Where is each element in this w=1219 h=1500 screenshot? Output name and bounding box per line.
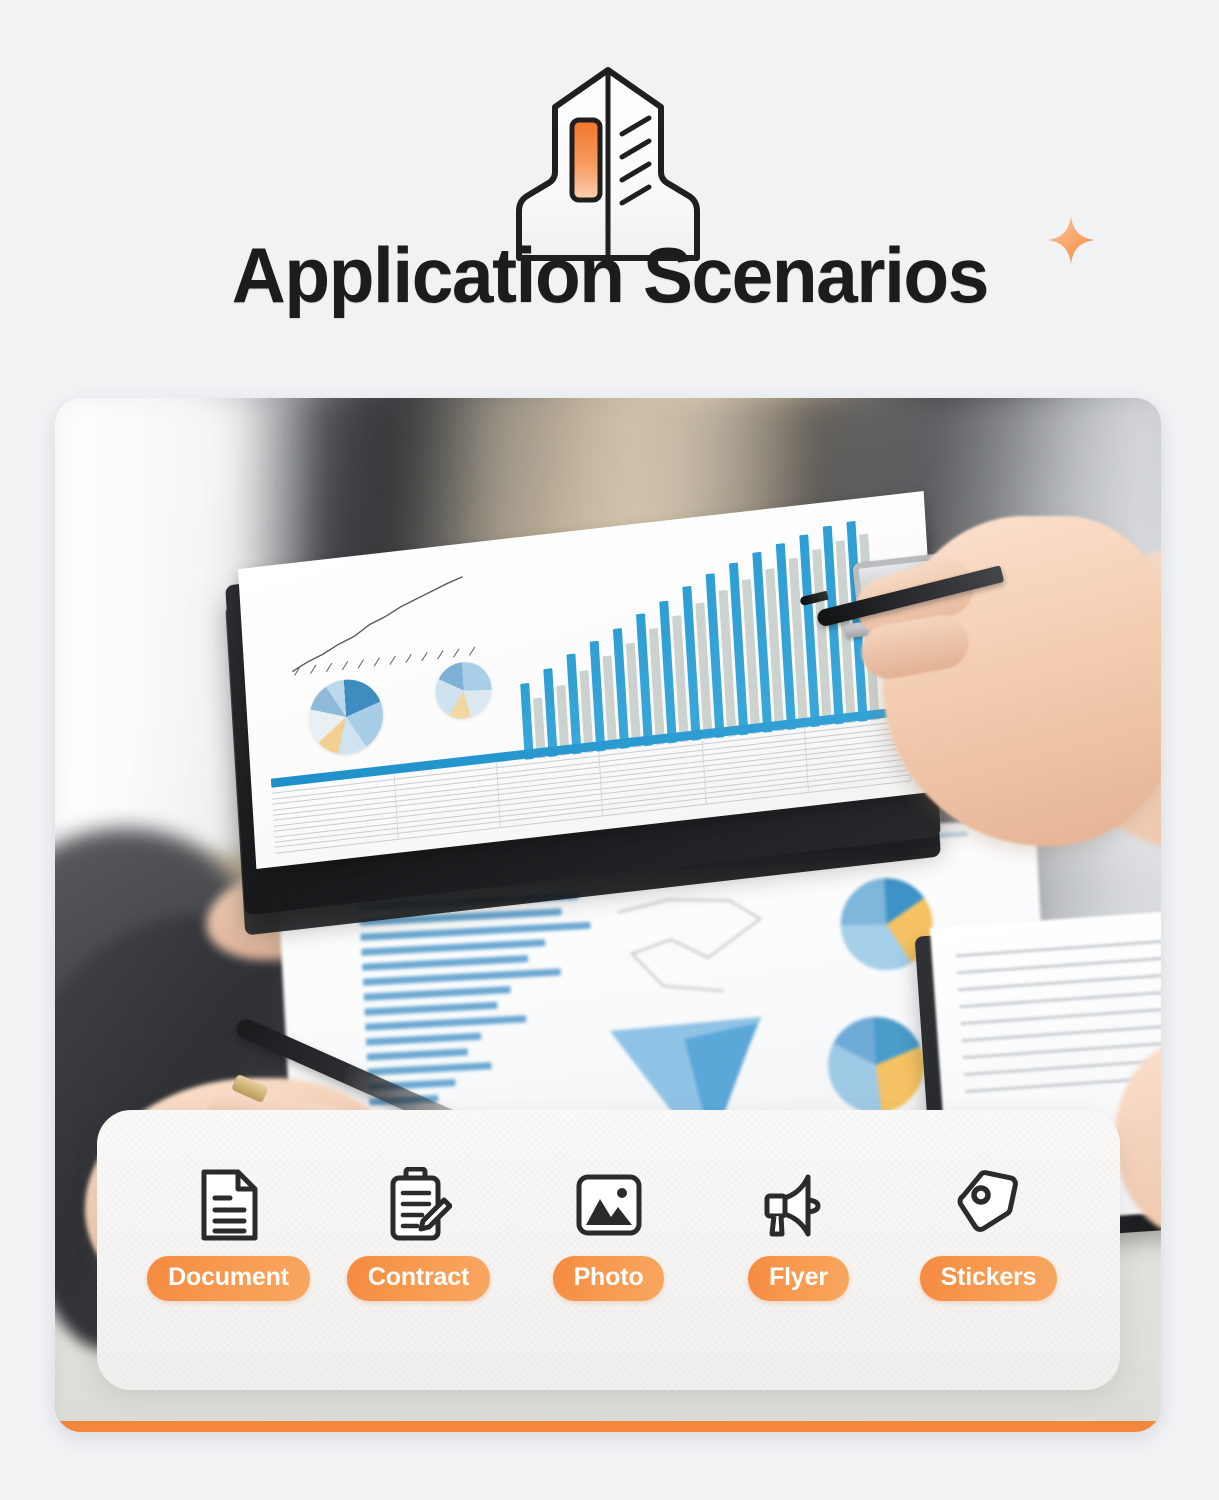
loose-paper-horizontal-bars [359,892,600,1114]
category-item-contract[interactable]: Contract [324,1166,514,1301]
category-list: Document Contract [97,1166,1120,1301]
page-header: Application Scenarios [0,0,1219,398]
photo-accent-bar [55,1421,1161,1432]
category-pill-flyer[interactable]: Flyer [748,1256,849,1301]
category-item-photo[interactable]: Photo [514,1166,704,1301]
category-panel: Document Contract [97,1110,1120,1390]
document-page-icon [198,1166,260,1244]
category-pill-photo[interactable]: Photo [553,1256,665,1301]
category-item-document[interactable]: Document [134,1166,324,1301]
loose-paper-scatter-plot [609,883,795,1012]
category-item-flyer[interactable]: Flyer [704,1166,894,1301]
category-pill-contract[interactable]: Contract [347,1256,490,1301]
price-tag-icon [955,1166,1023,1244]
megaphone-icon [762,1166,836,1244]
image-picture-icon [575,1166,643,1244]
page-title: Application Scenarios [231,236,987,314]
clipboard-pencil-icon [386,1166,452,1244]
page-title-row: Application Scenarios [0,236,1219,314]
category-pill-stickers[interactable]: Stickers [920,1256,1058,1301]
category-item-stickers[interactable]: Stickers [894,1166,1084,1301]
clipboard-report-pie-2 [434,659,493,721]
clipboard-report-pie-1 [307,676,385,758]
loose-paper-pie-2 [826,1015,927,1116]
sparkle-star-icon [1045,214,1097,266]
category-pill-document[interactable]: Document [147,1256,310,1301]
clipboard-report-line-chart [281,566,515,678]
